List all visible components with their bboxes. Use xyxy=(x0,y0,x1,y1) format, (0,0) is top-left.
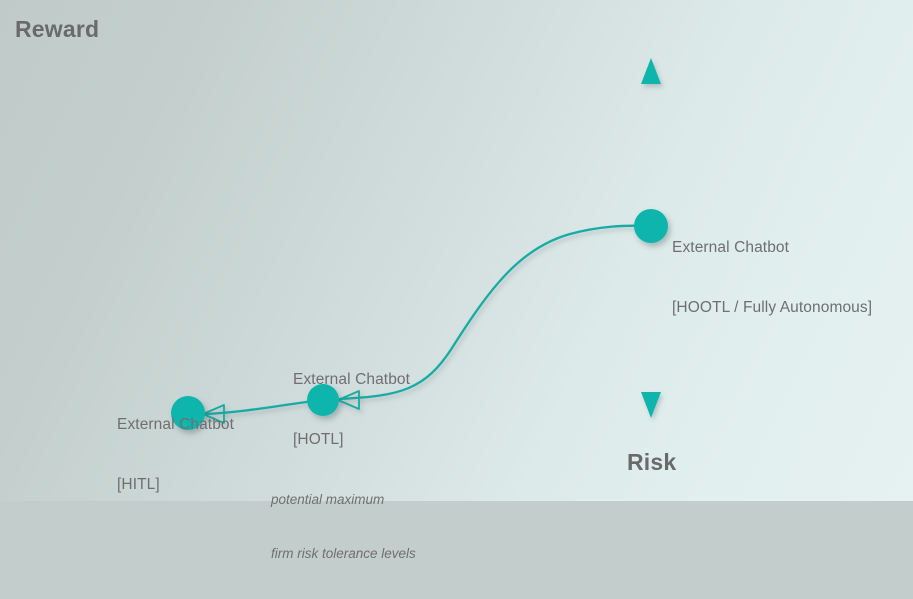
node-label-hootl: External Chatbot [HOOTL / Fully Autonomo… xyxy=(672,198,872,358)
node-label-hootl-line1: External Chatbot xyxy=(672,238,872,258)
axis-title-reward: Reward xyxy=(15,16,99,43)
node-label-hotl-line1: External Chatbot xyxy=(293,370,410,390)
node-label-hitl-line2: [HITL] xyxy=(117,475,234,495)
arrow-up-icon xyxy=(641,58,661,84)
arrow-down-icon xyxy=(641,392,661,418)
node-label-hotl-line2: [HOTL] xyxy=(293,430,410,450)
diagram-canvas: Reward Risk External Chatbot [HITL] Exte… xyxy=(0,0,913,501)
node-dot-hootl[interactable] xyxy=(634,209,668,243)
node-label-hitl: External Chatbot [HITL] xyxy=(117,375,234,535)
node-label-hitl-line1: External Chatbot xyxy=(117,415,234,435)
caption-risk-tolerance-line1: potential maximum xyxy=(271,491,416,509)
caption-risk-tolerance-line2: firm risk tolerance levels xyxy=(271,545,416,563)
axis-title-risk: Risk xyxy=(627,449,676,476)
node-label-hootl-line2: [HOOTL / Fully Autonomous] xyxy=(672,298,872,318)
caption-risk-tolerance: potential maximum firm risk tolerance le… xyxy=(271,455,416,599)
